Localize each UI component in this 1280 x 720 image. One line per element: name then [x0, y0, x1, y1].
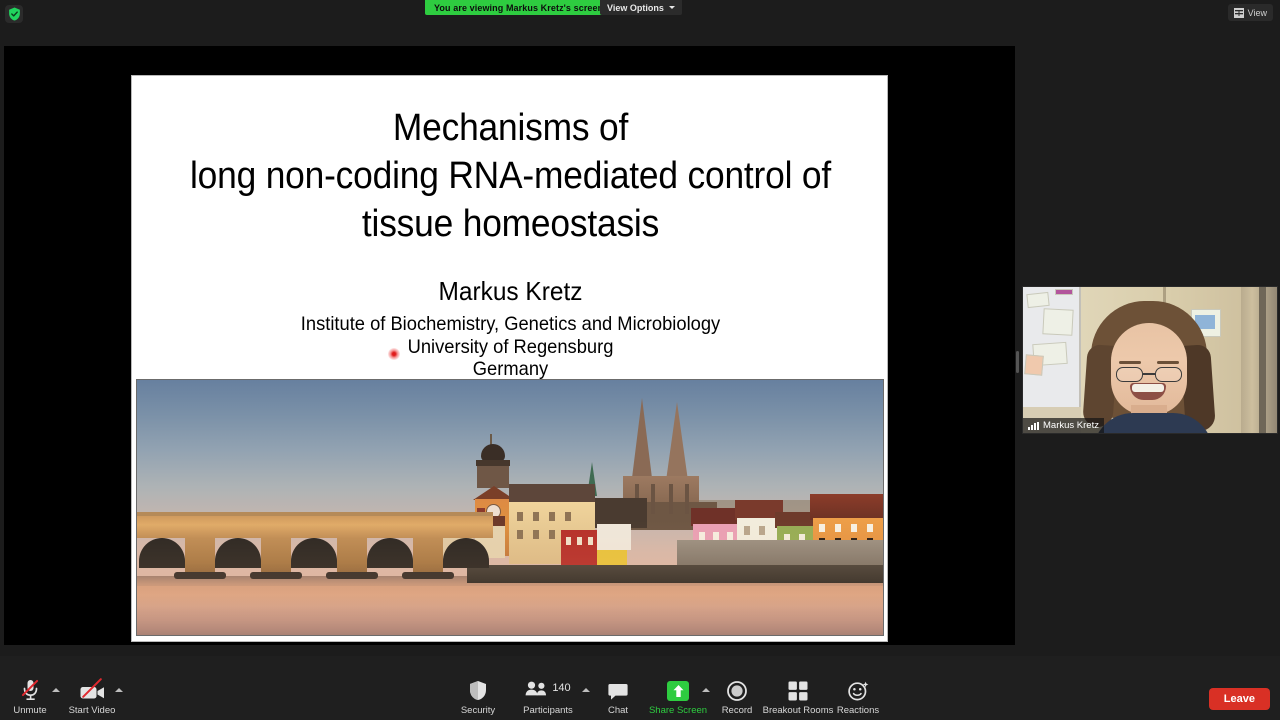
- divider-grip-handle[interactable]: [1016, 351, 1019, 373]
- chevron-up-icon: [115, 688, 123, 692]
- share-screen-label: Share Screen: [649, 705, 707, 716]
- video-participant-name: Markus Kretz: [1043, 420, 1099, 431]
- laser-pointer-dot: [388, 348, 400, 360]
- top-bar: You are viewing Markus Kretz's screen Vi…: [0, 0, 1280, 27]
- person-glasses-left: [1116, 367, 1143, 382]
- participants-label: Participants: [523, 705, 573, 716]
- video-wall-note: [1026, 292, 1049, 308]
- view-layout-button[interactable]: View: [1228, 4, 1273, 21]
- slide-title-line-2: long non-coding RNA-mediated control of: [158, 152, 862, 200]
- affiliation-line-1: Institute of Biochemistry, Genetics and …: [155, 313, 867, 336]
- video-wall-note: [1024, 354, 1044, 375]
- panel-divider[interactable]: [1015, 46, 1021, 645]
- photo-stone-bridge: [136, 516, 493, 578]
- slide-title-line-1: Mechanisms of: [158, 104, 862, 152]
- signal-bars-icon: [1028, 422, 1039, 430]
- video-wall-note: [1055, 289, 1073, 295]
- zoom-meeting-window: You are viewing Markus Kretz's screen Vi…: [0, 0, 1280, 720]
- people-icon: 140: [525, 675, 570, 701]
- participants-count: 140: [552, 682, 570, 694]
- photo-riverbank: [467, 565, 884, 583]
- view-options-label: View Options: [607, 3, 664, 13]
- unmute-label: Unmute: [13, 705, 46, 716]
- microphone-muted-icon: [22, 675, 39, 701]
- slide-title-line-3: tissue homeostasis: [158, 200, 862, 248]
- record-circle-icon: [727, 675, 747, 701]
- person-face: [1111, 323, 1187, 415]
- security-label: Security: [461, 705, 495, 716]
- leave-meeting-button[interactable]: Leave: [1209, 688, 1270, 710]
- participants-button[interactable]: 140 Participants: [512, 675, 584, 716]
- chevron-down-icon: [669, 6, 675, 9]
- affiliation-line-3: Germany: [155, 358, 867, 381]
- presentation-slide: Mechanisms of long non-coding RNA-mediat…: [131, 75, 888, 642]
- encryption-shield-icon[interactable]: [5, 5, 23, 23]
- grid-view-icon: [1234, 8, 1244, 18]
- viewing-screen-text: You are viewing Markus Kretz's screen: [434, 3, 603, 13]
- photo-red-house: [561, 530, 601, 566]
- video-wall-note: [1042, 308, 1073, 336]
- slide-affiliation: Institute of Biochemistry, Genetics and …: [155, 313, 867, 381]
- photo-danube-water: [137, 576, 883, 636]
- reactions-label: Reactions: [837, 705, 879, 716]
- photo-quay-wall: [677, 540, 884, 568]
- shield-icon: [469, 675, 487, 701]
- slide-author: Markus Kretz: [155, 275, 867, 307]
- regensburg-skyline-photo: [136, 379, 884, 636]
- chat-bubble-icon: [608, 675, 628, 701]
- grid-squares-icon: [788, 675, 808, 701]
- smiley-reaction-icon: [848, 675, 869, 701]
- video-person: [1083, 301, 1215, 434]
- affiliation-line-2: University of Regensburg: [155, 336, 867, 359]
- viewing-screen-banner: You are viewing Markus Kretz's screen: [425, 0, 612, 15]
- share-screen-up-arrow-icon: [667, 675, 689, 701]
- reactions-button[interactable]: Reactions: [822, 675, 894, 716]
- video-name-label: Markus Kretz: [1023, 418, 1104, 433]
- slide-title: Mechanisms of long non-coding RNA-mediat…: [158, 104, 862, 248]
- security-button[interactable]: Security: [442, 675, 514, 716]
- video-camera-off-icon: [80, 675, 105, 701]
- meeting-toolbar: Unmute Start Video Security: [0, 656, 1280, 720]
- video-door-jamb: [1259, 287, 1266, 434]
- video-options-caret[interactable]: [113, 684, 125, 696]
- record-label: Record: [722, 705, 753, 716]
- person-glasses-right: [1155, 367, 1182, 382]
- photo-white-house: [597, 524, 631, 550]
- participant-video-tile[interactable]: Markus Kretz: [1022, 286, 1278, 434]
- view-options-button[interactable]: View Options: [600, 0, 682, 15]
- chat-label: Chat: [608, 705, 628, 716]
- view-button-label: View: [1248, 8, 1267, 18]
- shared-screen-stage[interactable]: Mechanisms of long non-coding RNA-mediat…: [4, 46, 1015, 645]
- start-video-label: Start Video: [69, 705, 116, 716]
